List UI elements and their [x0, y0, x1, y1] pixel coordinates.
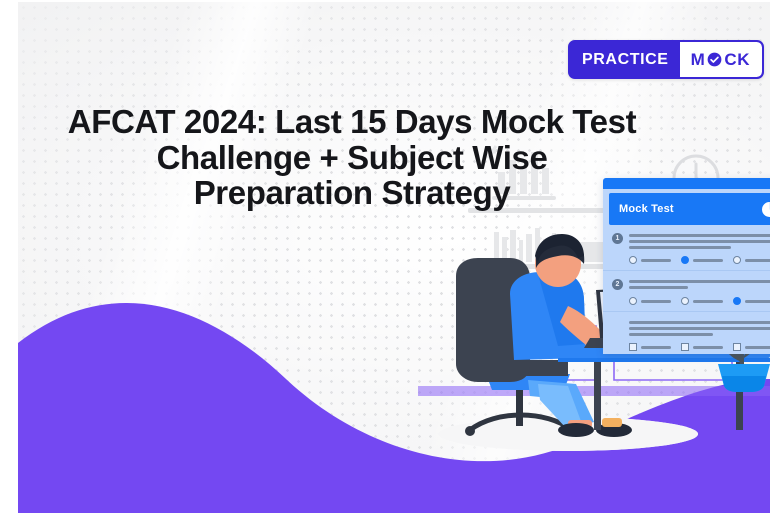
page-title: AFCAT 2024: Last 15 Days Mock Test Chall… — [22, 104, 682, 211]
mock-test-header: Mock Test — [609, 193, 770, 225]
logo-mock-text: M CK — [680, 42, 763, 77]
option-radio-selected[interactable] — [733, 297, 770, 305]
question-text-placeholder — [629, 319, 770, 336]
question-item[interactable]: 3 — [603, 312, 770, 354]
option-radio[interactable] — [681, 297, 723, 305]
mock-test-window[interactable]: Mock Test 1 — [603, 178, 770, 354]
answer-options[interactable] — [612, 343, 770, 351]
answer-options[interactable] — [612, 256, 770, 264]
option-radio[interactable] — [629, 256, 671, 264]
question-item[interactable]: 2 — [603, 271, 770, 312]
question-text-placeholder — [629, 232, 770, 249]
question-item[interactable]: 1 — [603, 225, 770, 271]
option-checkbox[interactable] — [681, 343, 723, 351]
check-circle-icon — [707, 52, 722, 67]
option-radio[interactable] — [733, 256, 770, 264]
banner-artboard: AFCAT 2024: Last 15 Days Mock Test Chall… — [18, 2, 770, 513]
option-radio-selected[interactable] — [681, 256, 723, 264]
pie-timer-icon — [762, 202, 770, 217]
question-number: 2 — [612, 279, 623, 290]
option-checkbox[interactable] — [733, 343, 770, 351]
window-titlebar — [603, 178, 770, 189]
logo-mock-prefix: M — [691, 51, 706, 68]
logo-mock-suffix: CK — [724, 51, 750, 68]
question-number: 1 — [612, 233, 623, 244]
afcat-promo-banner: AFCAT 2024: Last 15 Days Mock Test Chall… — [0, 0, 770, 515]
practicemock-logo[interactable]: PRACTICE M CK — [568, 40, 764, 79]
option-checkbox[interactable] — [629, 343, 671, 351]
answer-options[interactable] — [612, 297, 770, 305]
option-radio[interactable] — [629, 297, 671, 305]
question-text-placeholder — [629, 278, 770, 290]
logo-practice-text: PRACTICE — [570, 42, 680, 77]
mock-test-title: Mock Test — [619, 203, 674, 215]
